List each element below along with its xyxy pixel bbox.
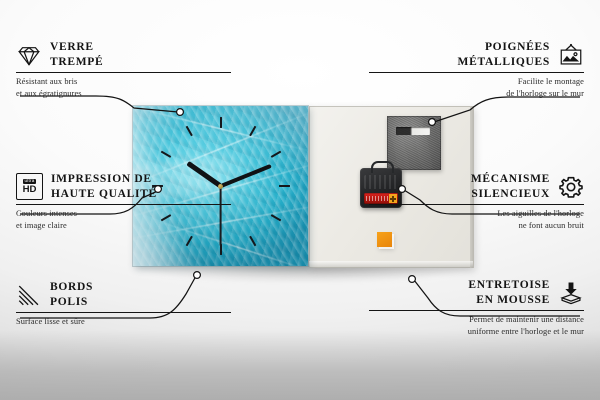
feature-divider — [16, 72, 231, 73]
ultra-hd-icon: ultra HD — [16, 173, 43, 200]
feature-impression-haute-qualite: ultra HD IMPRESSION DE HAUTE QUALITÉ Cou… — [16, 172, 231, 231]
feature-title: VERRE TREMPÉ — [50, 40, 103, 69]
connector-dot-poignees — [429, 119, 436, 126]
feature-title: IMPRESSION DE HAUTE QUALITÉ — [51, 172, 157, 201]
feature-divider — [16, 204, 231, 205]
gear-icon — [558, 174, 584, 200]
feature-divider — [369, 204, 584, 205]
feature-heading-row: BORDS POLIS — [16, 280, 231, 309]
ultra-hd-large-label: HD — [23, 185, 37, 195]
feature-heading-row: MÉCANISME SILENCIEUX — [369, 172, 584, 201]
connector-dot-bords-polis — [194, 272, 201, 279]
feature-heading-row: VERRE TREMPÉ — [16, 40, 231, 69]
polished-edges-icon — [16, 282, 42, 308]
connector-poignees — [434, 97, 580, 122]
feature-title: MÉCANISME SILENCIEUX — [471, 172, 550, 201]
feature-divider — [16, 312, 231, 313]
wall-mount-frame-icon — [558, 42, 584, 68]
feature-description: Permet de maintenir une distance uniform… — [369, 314, 584, 337]
feature-poignees-metalliques: POIGNÉES MÉTALLIQUES Facilite le montage… — [369, 40, 584, 99]
feature-divider — [369, 310, 584, 311]
feature-heading-row: ENTRETOISE EN MOUSSE — [369, 278, 584, 307]
feature-heading-row: POIGNÉES MÉTALLIQUES — [369, 40, 584, 69]
feature-title: BORDS POLIS — [50, 280, 93, 309]
feature-verre-trempe: VERRE TREMPÉ Résistant aux bris et aux é… — [16, 40, 231, 99]
foam-spacer-arrow-icon — [558, 280, 584, 306]
feature-title: POIGNÉES MÉTALLIQUES — [458, 40, 550, 69]
feature-description: Résistant aux bris et aux égratignures — [16, 76, 231, 99]
feature-description: Facilite le montage de l'horloge sur le … — [369, 76, 584, 99]
product-infographic: VERRE TREMPÉ Résistant aux bris et aux é… — [0, 0, 600, 400]
feature-mecanisme-silencieux: MÉCANISME SILENCIEUX Les aiguilles de l'… — [369, 172, 584, 231]
feature-divider — [369, 72, 584, 73]
feature-description: Couleurs intenses et image claire — [16, 208, 231, 231]
feature-heading-row: ultra HD IMPRESSION DE HAUTE QUALITÉ — [16, 172, 231, 201]
connector-dot-verre-trempe — [177, 109, 184, 116]
feature-description: Surface lisse et sûre — [16, 316, 231, 327]
feature-entretoise-en-mousse: ENTRETOISE EN MOUSSE Permet de maintenir… — [369, 278, 584, 337]
feature-title: ENTRETOISE EN MOUSSE — [468, 278, 550, 307]
diamond-icon — [16, 42, 42, 68]
feature-description: Les aiguilles de l'horloge ne font aucun… — [369, 208, 584, 231]
feature-bords-polis: BORDS POLIS Surface lisse et sûre — [16, 280, 231, 328]
